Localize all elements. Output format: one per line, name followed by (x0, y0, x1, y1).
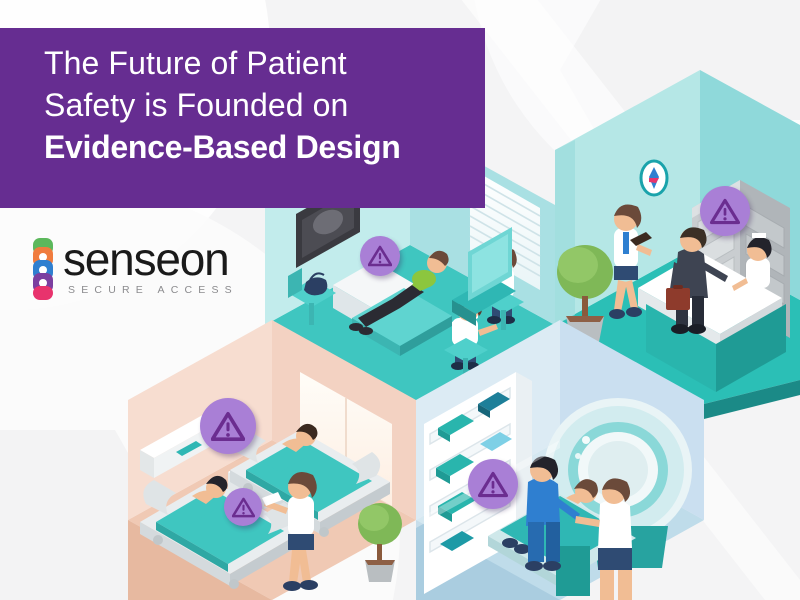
warning-badge-ward-large[interactable] (200, 398, 256, 454)
warning-badge-ward-small[interactable] (224, 488, 262, 526)
logo-wordmark: senseon (63, 236, 238, 282)
warning-badge-reception[interactable] (700, 186, 750, 236)
chain-link-logo-mark (30, 238, 56, 300)
headline-line-3: Evidence-Based Design (44, 126, 463, 168)
warning-triangle-icon (211, 411, 245, 442)
warning-triangle-icon (368, 245, 392, 267)
banner-graphic: The Future of Patient Safety is Founded … (0, 0, 800, 600)
warning-triangle-icon (232, 497, 255, 518)
logo-tagline: SECURE ACCESS (68, 284, 238, 296)
warning-badge-exam-room[interactable] (360, 236, 400, 276)
warning-badge-imaging[interactable] (468, 459, 518, 509)
headline-line-2: Safety is Founded on (44, 84, 463, 126)
senseon-logo[interactable]: senseon SECURE ACCESS (30, 236, 238, 300)
headline-banner: The Future of Patient Safety is Founded … (0, 28, 485, 208)
warning-triangle-icon (710, 198, 740, 225)
headline-line-1: The Future of Patient (44, 42, 463, 84)
chain-link-pink (33, 286, 53, 300)
wall-emblem-sign (641, 161, 667, 195)
warning-triangle-icon (478, 471, 508, 498)
